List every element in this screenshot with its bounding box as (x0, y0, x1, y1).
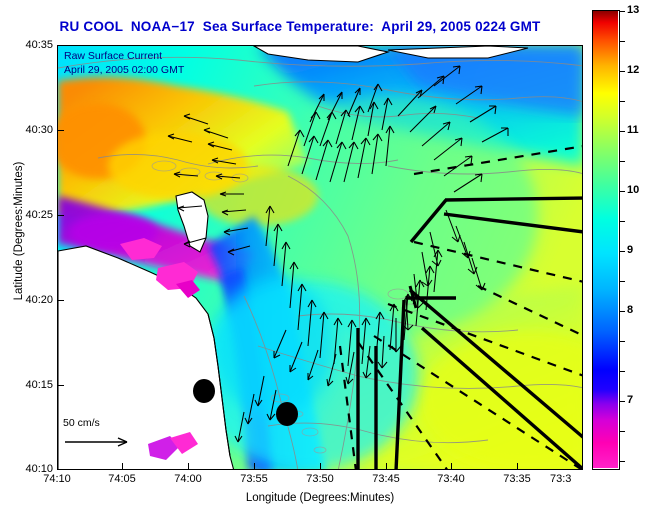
colorbar-tick-label: 7 (627, 394, 633, 406)
colorbar-tick-label: 11 (627, 124, 639, 136)
scale-label: 50 cm/s (63, 417, 159, 429)
sst-map-figure: RU COOL NOAA−17 Sea Surface Temperature:… (0, 0, 651, 515)
current-annotation: Raw Surface CurrentApril 29, 2005 02:00 … (64, 49, 184, 77)
y-tick-label: 40:30 (5, 124, 53, 136)
annotation-line-1: Raw Surface Current (64, 50, 162, 62)
colorbar-tick-label: 10 (627, 184, 639, 196)
sst-raster-and-overlays (58, 46, 583, 470)
colorbar-tick-label: 9 (627, 244, 633, 256)
y-tick-label: 40:35 (5, 39, 53, 51)
x-tick-label: 74:00 (158, 473, 218, 485)
x-tick-label: 73:50 (290, 473, 350, 485)
velocity-scale-legend: 50 cm/s (63, 417, 159, 459)
colorbar-tick-label: 12 (627, 64, 639, 76)
temperature-colorbar (592, 10, 620, 470)
colorbar-tick-label: 13 (627, 4, 639, 16)
x-tick-label: 73:45 (356, 473, 416, 485)
x-tick-label: 73:35 (487, 473, 547, 485)
arrow-right-icon (63, 433, 139, 449)
y-axis-label: Latitude (Degrees:Minutes) (13, 141, 25, 321)
colorbar-tick-label: 8 (627, 304, 633, 316)
map-plot-area[interactable]: Raw Surface CurrentApril 29, 2005 02:00 … (57, 45, 583, 470)
y-tick-label: 40:10 (5, 463, 53, 475)
x-tick-label: 73:55 (224, 473, 284, 485)
colorbar-gradient (593, 11, 618, 468)
x-axis-label: Longitude (Degrees:Minutes) (57, 492, 583, 504)
x-tick-label: 74:05 (92, 473, 152, 485)
annotation-line-2: April 29, 2005 02:00 GMT (64, 64, 184, 76)
y-tick-label: 40:15 (5, 379, 53, 391)
figure-title: RU COOL NOAA−17 Sea Surface Temperature:… (0, 19, 600, 34)
x-tick-label: 73:40 (421, 473, 481, 485)
x-tick-label: 73:3 (550, 473, 596, 485)
map-canvas: Raw Surface CurrentApril 29, 2005 02:00 … (58, 46, 582, 469)
